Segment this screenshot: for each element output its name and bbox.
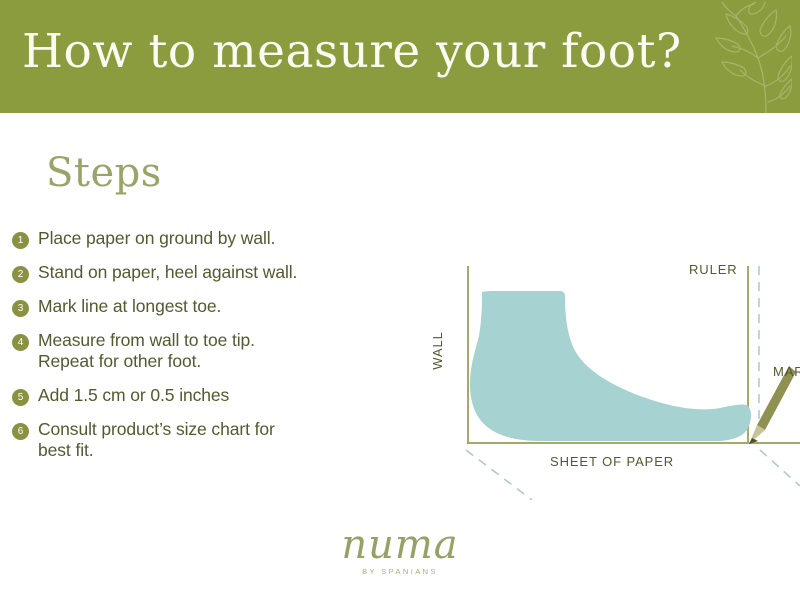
diagram-label-sheet-of-paper: SHEET OF PAPER <box>550 454 674 469</box>
list-item: 5 Add 1.5 cm or 0.5 inches <box>12 385 412 406</box>
foot-silhouette-icon <box>470 291 751 441</box>
list-item: 3 Mark line at longest toe. <box>12 296 412 317</box>
step-number-badge: 3 <box>12 300 29 317</box>
logo-wordmark: numa <box>0 524 800 566</box>
step-text: Stand on paper, heel against wall. <box>38 262 412 283</box>
diagram-label-mark: MAR <box>773 364 800 379</box>
step-text-line2: Repeat for other foot. <box>38 351 412 372</box>
step-number-badge: 2 <box>12 266 29 283</box>
foot-measurement-diagram: WALL SHEET OF PAPER RULER MAR <box>420 248 800 500</box>
step-text: Add 1.5 cm or 0.5 inches <box>38 385 412 406</box>
step-text-line1: Mark line at longest toe. <box>38 296 221 316</box>
step-text: Mark line at longest toe. <box>38 296 412 317</box>
list-item: 2 Stand on paper, heel against wall. <box>12 262 412 283</box>
diagram-label-ruler: RULER <box>689 262 738 277</box>
leaf-branch-icon <box>700 2 792 113</box>
step-text: Place paper on ground by wall. <box>38 228 412 249</box>
diagram-label-wall: WALL <box>430 331 445 370</box>
list-item: 1 Place paper on ground by wall. <box>12 228 412 249</box>
step-text-line1: Consult product’s size chart for <box>38 419 275 439</box>
step-text-line2: best fit. <box>38 440 412 461</box>
steps-heading: Steps <box>46 150 162 196</box>
step-number-badge: 1 <box>12 232 29 249</box>
step-text: Consult product’s size chart for best fi… <box>38 419 412 461</box>
step-number-badge: 5 <box>12 389 29 406</box>
logo-tagline: BY SPANIANS <box>0 567 800 576</box>
step-text: Measure from wall to toe tip. Repeat for… <box>38 330 412 372</box>
step-text-line1: Stand on paper, heel against wall. <box>38 262 297 282</box>
page-title: How to measure your foot? <box>22 24 682 79</box>
brand-logo: numa BY SPANIANS <box>0 524 800 576</box>
step-text-line1: Place paper on ground by wall. <box>38 228 275 248</box>
header-banner: How to measure your foot? <box>0 0 800 113</box>
step-text-line1: Add 1.5 cm or 0.5 inches <box>38 385 229 405</box>
step-number-badge: 4 <box>12 334 29 351</box>
step-text-line1: Measure from wall to toe tip. <box>38 330 255 350</box>
step-number-badge: 6 <box>12 423 29 440</box>
list-item: 6 Consult product’s size chart for best … <box>12 419 412 461</box>
steps-list: 1 Place paper on ground by wall. 2 Stand… <box>12 228 412 474</box>
list-item: 4 Measure from wall to toe tip. Repeat f… <box>12 330 412 372</box>
